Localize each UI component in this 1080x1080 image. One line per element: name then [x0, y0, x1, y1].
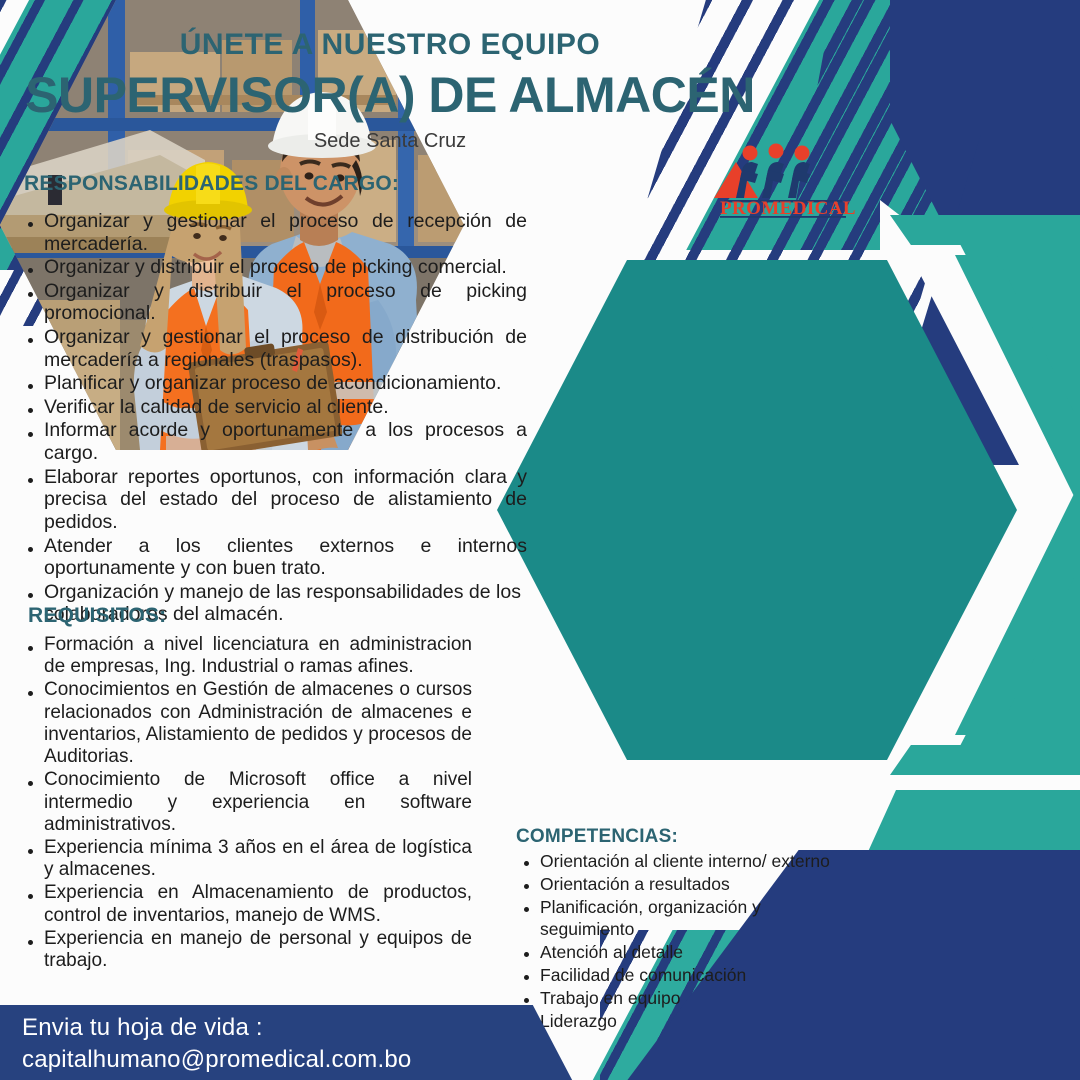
promedical-logo: PROMEDICAL	[706, 140, 866, 218]
poster-kicker: ÚNETE A NUESTRO EQUIPO	[0, 28, 780, 62]
competencias-heading: COMPETENCIAS:	[516, 826, 678, 848]
list-item: Atención al detalle	[516, 941, 856, 963]
decor-right-teal-chevron	[835, 215, 1080, 775]
list-item: Informar acorde y oportunamente a los pr…	[22, 419, 527, 464]
list-item: Organizar y gestionar el proceso de rece…	[22, 210, 527, 255]
logo-wordmark: PROMEDICAL	[720, 198, 856, 218]
responsabilidades-list: Organizar y gestionar el proceso de rece…	[22, 210, 527, 627]
list-item: Planificación, organización y seguimient…	[516, 896, 856, 940]
decor-right-navy-chevron-upper	[890, 0, 1080, 300]
list-item: Experiencia en manejo de personal y equi…	[22, 928, 472, 972]
list-item: Organizar y distribuir el proceso de pic…	[22, 280, 527, 325]
list-item: Orientación al cliente interno/ externo	[516, 850, 856, 872]
decor-right-white-chevron-gap	[905, 245, 1080, 745]
footer-cta-label: Envia tu hoja de vida :	[22, 1012, 492, 1044]
list-item: Experiencia mínima 3 años en el área de …	[22, 837, 472, 881]
poster-subtitle: Sede Santa Cruz	[0, 130, 780, 153]
list-item: Orientación a resultados	[516, 873, 856, 895]
requisitos-list: Formación a nivel licenciatura en admini…	[22, 634, 472, 973]
list-item: Verificar la calidad de servicio al clie…	[22, 396, 527, 419]
list-item: Facilidad de comunicación	[516, 964, 856, 986]
responsabilidades-heading: RESPONSABILIDADES DEL CARGO:	[24, 172, 399, 196]
decor-right-white-notch	[880, 200, 950, 290]
job-posting-poster: Dos trabajadores de almacén con chalecos…	[0, 0, 1080, 1080]
list-item: Experiencia en Almacenamiento de product…	[22, 882, 472, 926]
page-title: SUPERVISOR(A) DE ALMACÉN	[0, 66, 780, 124]
list-item: Organizar y distribuir el proceso de pic…	[22, 256, 527, 279]
list-item: Planificar y organizar proceso de acondi…	[22, 372, 527, 395]
footer-email[interactable]: capitalhumano@promedical.com.bo	[22, 1044, 492, 1076]
decor-right-teal-chevron-outer	[955, 255, 1080, 735]
list-item: Atender a los clientes externos e intern…	[22, 535, 527, 580]
competencias-list: Orientación al cliente interno/ externo …	[516, 850, 856, 1033]
list-item: Conocimiento de Microsoft office a nivel…	[22, 769, 472, 836]
list-item: Trabajo en equipo	[516, 987, 856, 1009]
list-item: Elaborar reportes oportunos, con informa…	[22, 466, 527, 534]
list-item: Formación a nivel licenciatura en admini…	[22, 634, 472, 678]
requisitos-heading: REQUISITOS:	[28, 604, 166, 628]
list-item: Conocimientos en Gestión de almacenes o …	[22, 679, 472, 768]
list-item: Organizar y gestionar el proceso de dist…	[22, 326, 527, 371]
decor-right-navy-chevron-lower	[880, 135, 1080, 465]
footer-contact: Envia tu hoja de vida : capitalhumano@pr…	[22, 1012, 492, 1075]
list-item: Liderazgo	[516, 1010, 856, 1032]
photo-hexagon-frame	[497, 260, 1017, 760]
